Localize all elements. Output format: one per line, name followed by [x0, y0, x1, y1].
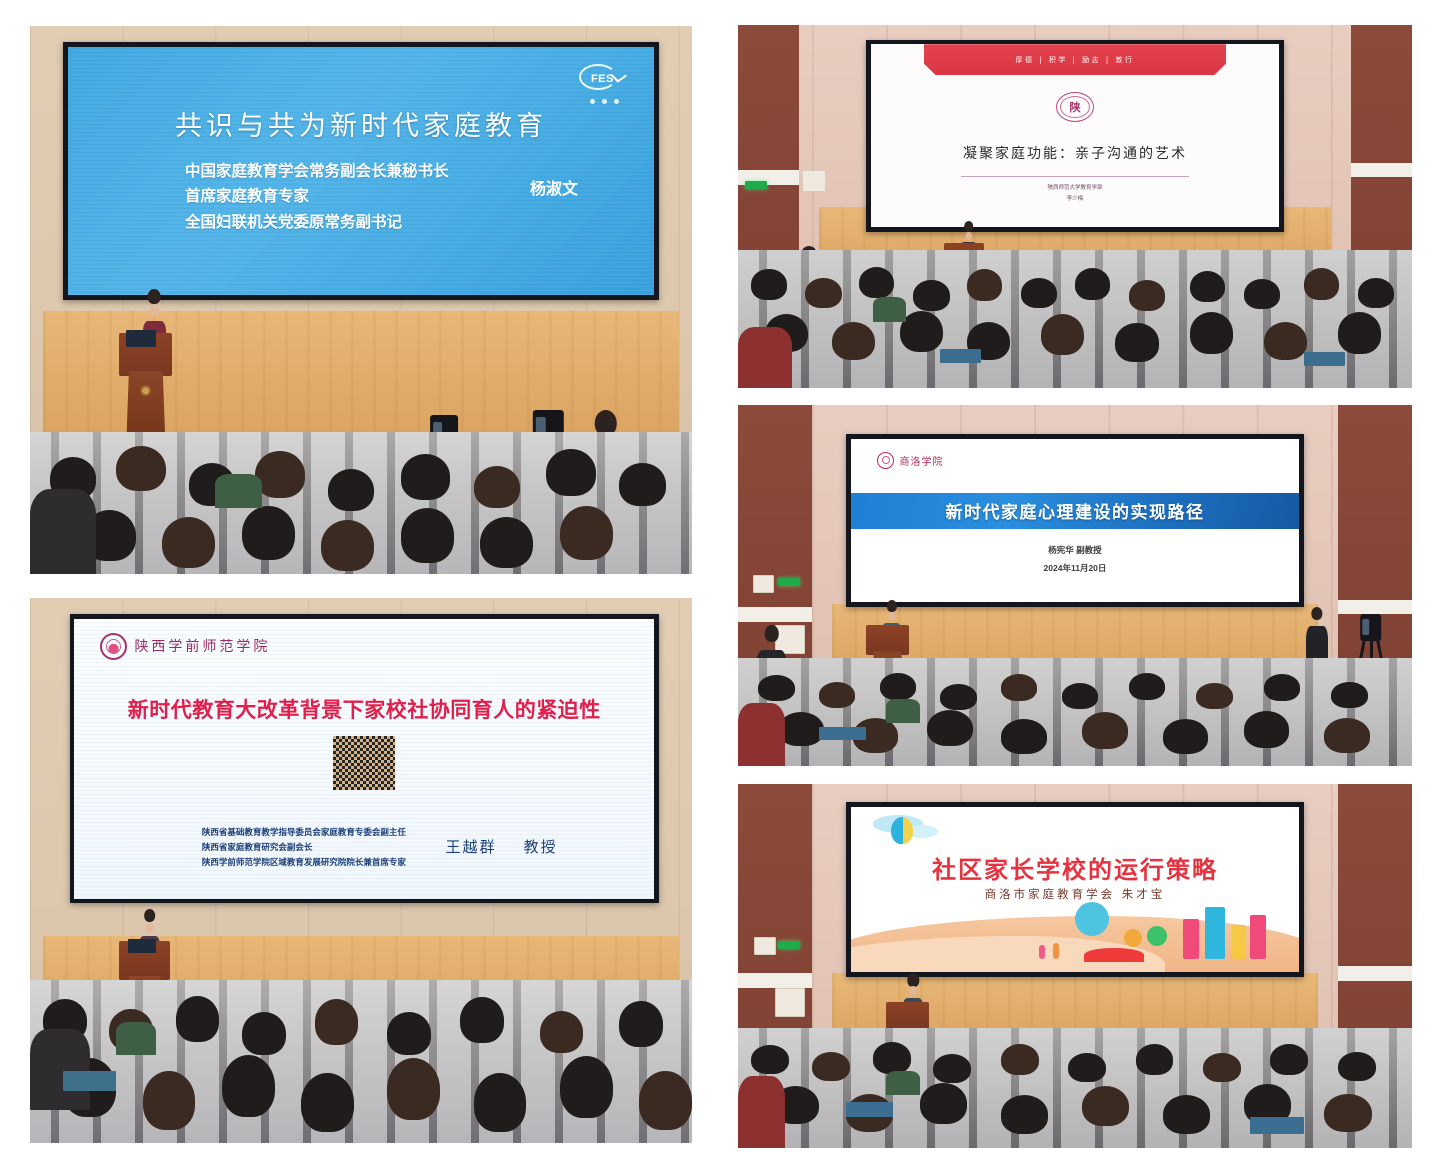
university-seal-icon: 陕 — [1056, 92, 1094, 122]
slide-subtitle: 商洛市家庭教育学会 朱才宝 — [851, 886, 1300, 902]
building-icon — [1205, 907, 1225, 959]
wall-poster — [775, 988, 805, 1017]
affiliation: 陕西师范大学教育学部 — [871, 183, 1279, 193]
red-ground-shape — [1084, 948, 1144, 962]
slide-title: 新时代教育大改革背景下家校社协同育人的紧迫性 — [74, 694, 654, 724]
audience-area — [30, 980, 692, 1144]
fes-logo-icon: FES — [579, 64, 625, 98]
credit-line: 中国家庭教育学会常务副会长兼秘书长 — [185, 159, 449, 185]
seal-character: 陕 — [1069, 99, 1080, 115]
slide-banner: 厚德 | 积学 | 励志 | 敦行 — [924, 44, 1226, 75]
institution-name: 陕西学前师范学院 — [134, 636, 270, 656]
building-icon — [1232, 925, 1246, 959]
slide-credits: 中国家庭教育学会常务副会长兼秘书长 首席家庭教育专家 全国妇联机关党委原常务副书… — [185, 159, 449, 236]
tree-icon — [1075, 902, 1109, 936]
speaker-name: 王越群 — [445, 838, 496, 856]
shangluo-university-logo: 商洛学院 — [877, 452, 943, 469]
wall-notice-plate — [754, 937, 776, 955]
credit-line: 陕西学前师范学院区域教育发展研究院院长兼首席专家 — [202, 856, 406, 871]
hot-air-balloon-icon — [891, 817, 913, 844]
credit-line: 首席家庭教育专家 — [185, 184, 449, 210]
building-icon — [1250, 915, 1266, 959]
slide-4: 陕西学前师范学院 新时代教育大改革背景下家校社协同育人的紧迫性 陕西省基础教育教… — [74, 619, 654, 899]
slide-speaker-name: 杨淑文 — [530, 175, 578, 199]
slide-subtitle-block: 杨宪华 副教授 2024年11月20日 — [851, 542, 1300, 578]
slide-2: 厚德 | 积学 | 励志 | 敦行 陕 凝聚家庭功能：亲子沟通的艺术 陕西师范大… — [871, 44, 1279, 227]
slide-affiliation-block: 陕西师范大学教育学部 李少梅 — [871, 183, 1279, 204]
slide-title-bar: 新时代家庭心理建设的实现路径 — [851, 493, 1300, 529]
slide-title: 凝聚家庭功能：亲子沟通的艺术 — [871, 143, 1279, 163]
slide-speaker: 王越群 教授 — [445, 836, 557, 857]
exit-sign-icon — [778, 578, 800, 586]
slide-title: 社区家长学校的运行策略 — [851, 850, 1300, 885]
slide-1: FES 共识与共为新时代家庭教育 中国家庭教育学会常务副会长兼秘书长 首席家庭教… — [68, 47, 655, 295]
credit-line: 陕西省基础教育教学指导委员会家庭教育专委会副主任 — [202, 826, 406, 841]
photo-lecture-zhu-caibao[interactable]: 社区家长学校的运行策略 商洛市家庭教育学会 朱才宝 — [738, 784, 1412, 1148]
slide-title: 新时代家庭心理建设的实现路径 — [945, 498, 1204, 523]
projection-screen: 商洛学院 新时代家庭心理建设的实现路径 杨宪华 副教授 2024年11月20日 — [846, 434, 1304, 607]
university-mark-icon — [100, 633, 127, 660]
institution-name: 商洛学院 — [899, 453, 943, 468]
credit-line: 全国妇联机关党委原常务副书记 — [185, 210, 449, 236]
shaanxi-xueqian-logo: 陕西学前师范学院 — [100, 633, 270, 660]
speaker-name: 杨宪华 副教授 — [851, 542, 1300, 560]
lectern-laptop — [128, 939, 156, 953]
slide-date: 2024年11月20日 — [851, 560, 1300, 578]
photo-collage: FES 共识与共为新时代家庭教育 中国家庭教育学会常务副会长兼秘书长 首席家庭教… — [0, 0, 1440, 1171]
projection-screen: 厚德 | 积学 | 励志 | 敦行 陕 凝聚家庭功能：亲子沟通的艺术 陕西师范大… — [866, 40, 1284, 232]
building-icon — [1183, 919, 1199, 959]
exit-sign-icon — [778, 941, 800, 949]
exit-sign-icon — [745, 181, 767, 189]
person-figure-icon — [1039, 945, 1045, 959]
lectern-laptop — [126, 330, 156, 346]
person-figure-icon — [1053, 943, 1059, 959]
audience-area — [738, 658, 1412, 766]
slide-3: 商洛学院 新时代家庭心理建设的实现路径 杨宪华 副教授 2024年11月20日 — [851, 439, 1300, 603]
projection-screen: 陕西学前师范学院 新时代教育大改革背景下家校社协同育人的紧迫性 陕西省基础教育教… — [70, 614, 659, 903]
projection-screen: 社区家长学校的运行策略 商洛市家庭教育学会 朱才宝 — [846, 802, 1304, 977]
projection-screen: FES 共识与共为新时代家庭教育 中国家庭教育学会常务副会长兼秘书长 首席家庭教… — [63, 42, 659, 300]
slide-title: 共识与共为新时代家庭教育 — [68, 104, 655, 143]
audience-area — [30, 432, 692, 574]
speaker-name: 李少梅 — [871, 194, 1279, 204]
slide-credits: 陕西省基础教育教学指导委员会家庭教育专委会副主任 陕西省家庭教育研究会副会长 陕… — [202, 826, 406, 871]
slide-5: 社区家长学校的运行策略 商洛市家庭教育学会 朱才宝 — [851, 807, 1300, 972]
tree-icon — [1147, 926, 1167, 946]
photo-lecture-wang-yuequn[interactable]: 陕西学前师范学院 新时代教育大改革背景下家校社协同育人的紧迫性 陕西省基础教育教… — [30, 598, 692, 1143]
wall-notice-plate — [753, 575, 775, 593]
qr-code[interactable] — [333, 736, 395, 790]
university-mark-icon — [877, 452, 894, 469]
banner-motto: 厚德 | 积学 | 励志 | 敦行 — [1016, 55, 1135, 65]
speaker-title: 教授 — [524, 838, 558, 856]
photo-lecture-yang-xianhua[interactable]: 商洛学院 新时代家庭心理建设的实现路径 杨宪华 副教授 2024年11月20日 — [738, 405, 1412, 766]
audience-area — [738, 1028, 1412, 1148]
wall-notice-plate — [802, 170, 826, 192]
credit-line: 陕西省家庭教育研究会副会长 — [202, 841, 406, 856]
photo-lecture-li-shaomei[interactable]: 厚德 | 积学 | 励志 | 敦行 陕 凝聚家庭功能：亲子沟通的艺术 陕西师范大… — [738, 25, 1412, 388]
photo-keynote-yang-shuwen[interactable]: FES 共识与共为新时代家庭教育 中国家庭教育学会常务副会长兼秘书长 首席家庭教… — [30, 26, 692, 574]
audience-area — [738, 250, 1412, 388]
